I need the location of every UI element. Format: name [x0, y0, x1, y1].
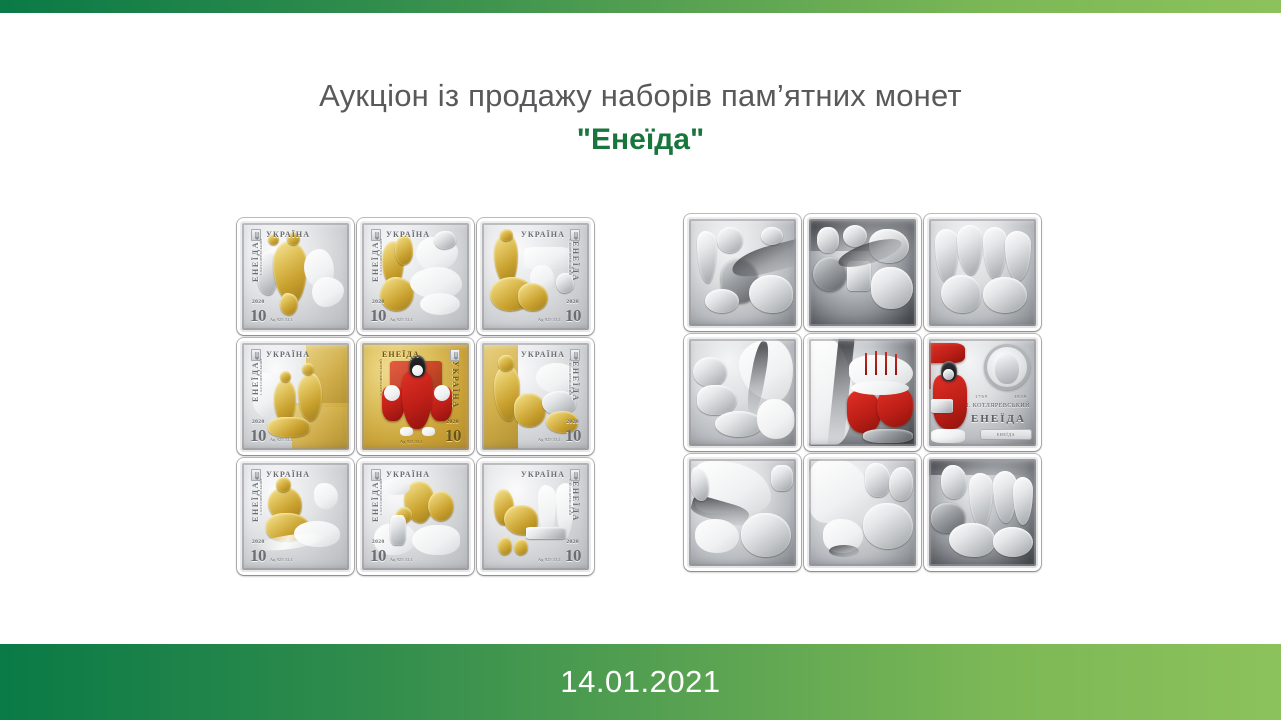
- page-title: Аукціон із продажу наборів пам’ятних мон…: [0, 76, 1281, 160]
- coin-face: УКРАЇНА ЕНЕЇДА І. КОТЛЯРЕВСЬКИЙ 2020 10 …: [360, 221, 471, 332]
- reverse-coin-set: 1769 1838 І. КОТЛЯРЕВСЬКИЙ ЕНЕЇДА ЕНЕЇДА: [684, 214, 1041, 571]
- trident-emblem-icon: [570, 349, 580, 361]
- coin-face: УКРАЇНА ЕНЕЇДА І. КОТЛЯРЕВСЬКИЙ 2020 10 …: [240, 341, 351, 452]
- coin-artwork: [927, 217, 1038, 328]
- obverse-coin-set: УКРАЇНА ЕНЕЇДА І. КОТЛЯРЕВСЬКИЙ 2020 10 …: [237, 218, 594, 575]
- trident-emblem-icon: [251, 229, 261, 241]
- portrait-date-right: 1838: [1014, 394, 1027, 399]
- coin-face: [807, 457, 918, 568]
- auction-date: 14.01.2021: [560, 664, 720, 700]
- coin-reverse-4[interactable]: [684, 334, 801, 451]
- coin-artwork: [807, 457, 918, 568]
- trident-emblem-icon: [251, 469, 261, 481]
- coin-artwork: [687, 337, 798, 448]
- portrait-date-left: 1769: [975, 394, 988, 399]
- trident-emblem-icon: [450, 349, 460, 361]
- top-accent-bar: [0, 0, 1281, 13]
- coin-reverse-5[interactable]: [804, 334, 921, 451]
- coin-face: [687, 457, 798, 568]
- coin-obverse-2[interactable]: УКРАЇНА ЕНЕЇДА І. КОТЛЯРЕВСЬКИЙ 2020 10 …: [357, 218, 474, 335]
- coin-artwork: [687, 217, 798, 328]
- coin-obverse-8[interactable]: УКРАЇНА ЕНЕЇДА І. КОТЛЯРЕВСЬКИЙ 2020 10 …: [357, 458, 474, 575]
- title-ribbon-label: ЕНЕЇДА: [980, 429, 1032, 440]
- coin-face: УКРАЇНА ЕНЕЇДА І. КОТЛЯРЕВСЬКИЙ 2020 10 …: [240, 461, 351, 572]
- coin-obverse-9[interactable]: УКРАЇНА ЕНЕЇДА І. КОТЛЯРЕВСЬКИЙ 2020 10 …: [477, 458, 594, 575]
- coin-face: [807, 337, 918, 448]
- coin-obverse-1[interactable]: УКРАЇНА ЕНЕЇДА І. КОТЛЯРЕВСЬКИЙ 2020 10 …: [237, 218, 354, 335]
- coin-reverse-7[interactable]: [684, 454, 801, 571]
- coin-reverse-3[interactable]: [924, 214, 1041, 331]
- trident-emblem-icon: [570, 469, 580, 481]
- trident-emblem-icon: [371, 469, 381, 481]
- portrait-kotliarevsky: [995, 354, 1019, 384]
- trident-emblem-icon: [251, 349, 261, 361]
- coin-artwork: [807, 337, 918, 448]
- coin-obverse-6[interactable]: УКРАЇНА ЕНЕЇДА І. КОТЛЯРЕВСЬКИЙ 2020 10 …: [477, 338, 594, 455]
- coin-face: УКРАЇНА ЕНЕЇДА І. КОТЛЯРЕВСЬКИЙ 2020 10 …: [480, 341, 591, 452]
- title-ribbon: ЕНЕЇДА: [980, 429, 1032, 440]
- portrait-name: І. КОТЛЯРЕВСЬКИЙ: [966, 403, 1030, 409]
- coin-reverse-2[interactable]: [804, 214, 921, 331]
- coin-face: [927, 217, 1038, 328]
- coin-reverse-1[interactable]: [684, 214, 801, 331]
- trident-emblem-icon: [371, 229, 381, 241]
- coin-reverse-9[interactable]: [924, 454, 1041, 571]
- page-title-line1: Аукціон із продажу наборів пам’ятних мон…: [0, 76, 1281, 116]
- coin-face: [807, 217, 918, 328]
- coin-obverse-7[interactable]: УКРАЇНА ЕНЕЇДА І. КОТЛЯРЕВСЬКИЙ 2020 10 …: [237, 458, 354, 575]
- coin-face: 1769 1838 І. КОТЛЯРЕВСЬКИЙ ЕНЕЇДА ЕНЕЇДА: [927, 337, 1038, 448]
- coin-artwork: [807, 217, 918, 328]
- coin-face: [687, 217, 798, 328]
- coin-face: УКРАЇНА ЕНЕЇДА І. КОТЛЯРЕВСЬКИЙ 2020 10 …: [360, 461, 471, 572]
- coin-face: УКРАЇНА ЕНЕЇДА І. КОТЛЯРЕВСЬКИЙ 2020 10 …: [480, 461, 591, 572]
- coin-reverse-6[interactable]: 1769 1838 І. КОТЛЯРЕВСЬКИЙ ЕНЕЇДА ЕНЕЇДА: [924, 334, 1041, 451]
- coin-face: [927, 457, 1038, 568]
- coin-obverse-3[interactable]: УКРАЇНА ЕНЕЇДА І. КОТЛЯРЕВСЬКИЙ 2020 10 …: [477, 218, 594, 335]
- coin-artwork: [687, 457, 798, 568]
- coin-face: [687, 337, 798, 448]
- portrait-wreath: [984, 344, 1030, 390]
- coin-face: УКРАЇНА ЕНЕЇДА І. КОТЛЯРЕВСЬКИЙ 2020 10 …: [240, 221, 351, 332]
- trident-emblem-icon: [570, 229, 580, 241]
- bottom-accent-bar: 14.01.2021: [0, 644, 1281, 720]
- coin-sets: УКРАЇНА ЕНЕЇДА І. КОТЛЯРЕВСЬКИЙ 2020 10 …: [0, 214, 1281, 594]
- coin-face: ЕНЕЇДА УКРАЇНА І. КОТЛЯРЕВСЬКИЙ 2020 10 …: [360, 341, 471, 452]
- coin-face: УКРАЇНА ЕНЕЇДА І. КОТЛЯРЕВСЬКИЙ 2020 10 …: [480, 221, 591, 332]
- coin-series-title: ЕНЕЇДА: [971, 413, 1026, 425]
- coin-obverse-4[interactable]: УКРАЇНА ЕНЕЇДА І. КОТЛЯРЕВСЬКИЙ 2020 10 …: [237, 338, 354, 455]
- coin-obverse-5[interactable]: ЕНЕЇДА УКРАЇНА І. КОТЛЯРЕВСЬКИЙ 2020 10 …: [357, 338, 474, 455]
- coin-reverse-8[interactable]: [804, 454, 921, 571]
- coin-artwork: [927, 457, 1038, 568]
- page-title-line2: "Енеїда": [0, 120, 1281, 160]
